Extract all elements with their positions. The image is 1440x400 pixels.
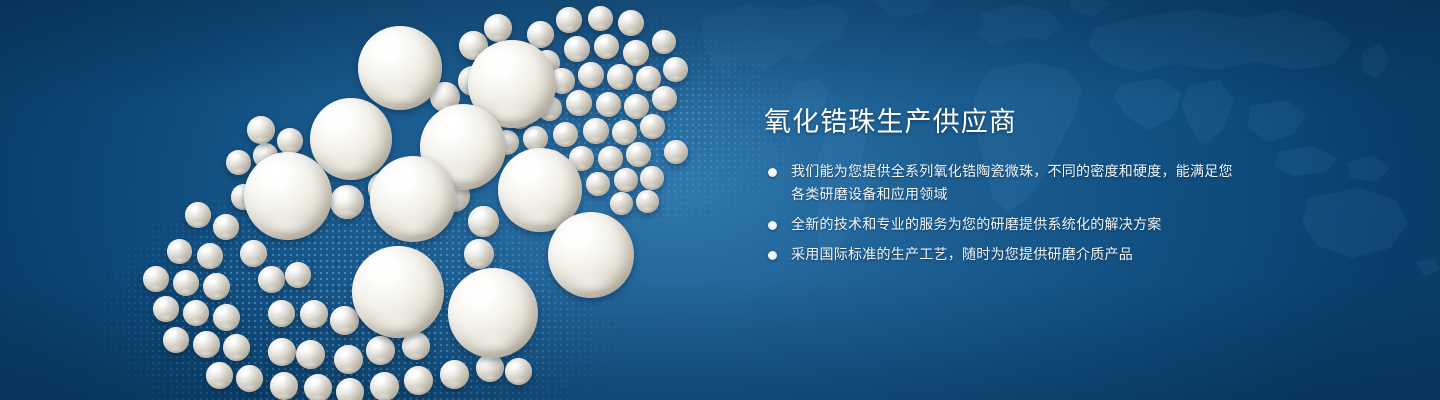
- bullet-dot-icon: [768, 221, 777, 230]
- feature-list-item: 采用国际标准的生产工艺，随时为您提供研磨介质产品: [764, 244, 1234, 267]
- banner-content: 氧化锆珠生产供应商 我们能为您提供全系列氧化锆陶瓷微珠，不同的密度和硬度，能满足…: [764, 106, 1234, 267]
- bullet-dot-icon: [768, 168, 777, 177]
- feature-list-item-text: 采用国际标准的生产工艺，随时为您提供研磨介质产品: [791, 247, 1133, 263]
- feature-list-item: 全新的技术和专业的服务为您的研磨提供系统化的解决方案: [764, 214, 1234, 237]
- hero-banner: 氧化锆珠生产供应商 我们能为您提供全系列氧化锆陶瓷微珠，不同的密度和硬度，能满足…: [0, 0, 1440, 400]
- feature-list-item-text: 我们能为您提供全系列氧化锆陶瓷微珠，不同的密度和硬度，能满足您各类研磨设备和应用…: [791, 164, 1233, 203]
- banner-headline: 氧化锆珠生产供应商: [764, 106, 1234, 140]
- feature-list-item-text: 全新的技术和专业的服务为您的研磨提供系统化的解决方案: [791, 217, 1162, 233]
- feature-list: 我们能为您提供全系列氧化锆陶瓷微珠，不同的密度和硬度，能满足您各类研磨设备和应用…: [764, 161, 1234, 267]
- bullet-dot-icon: [768, 251, 777, 260]
- feature-list-item: 我们能为您提供全系列氧化锆陶瓷微珠，不同的密度和硬度，能满足您各类研磨设备和应用…: [764, 161, 1234, 207]
